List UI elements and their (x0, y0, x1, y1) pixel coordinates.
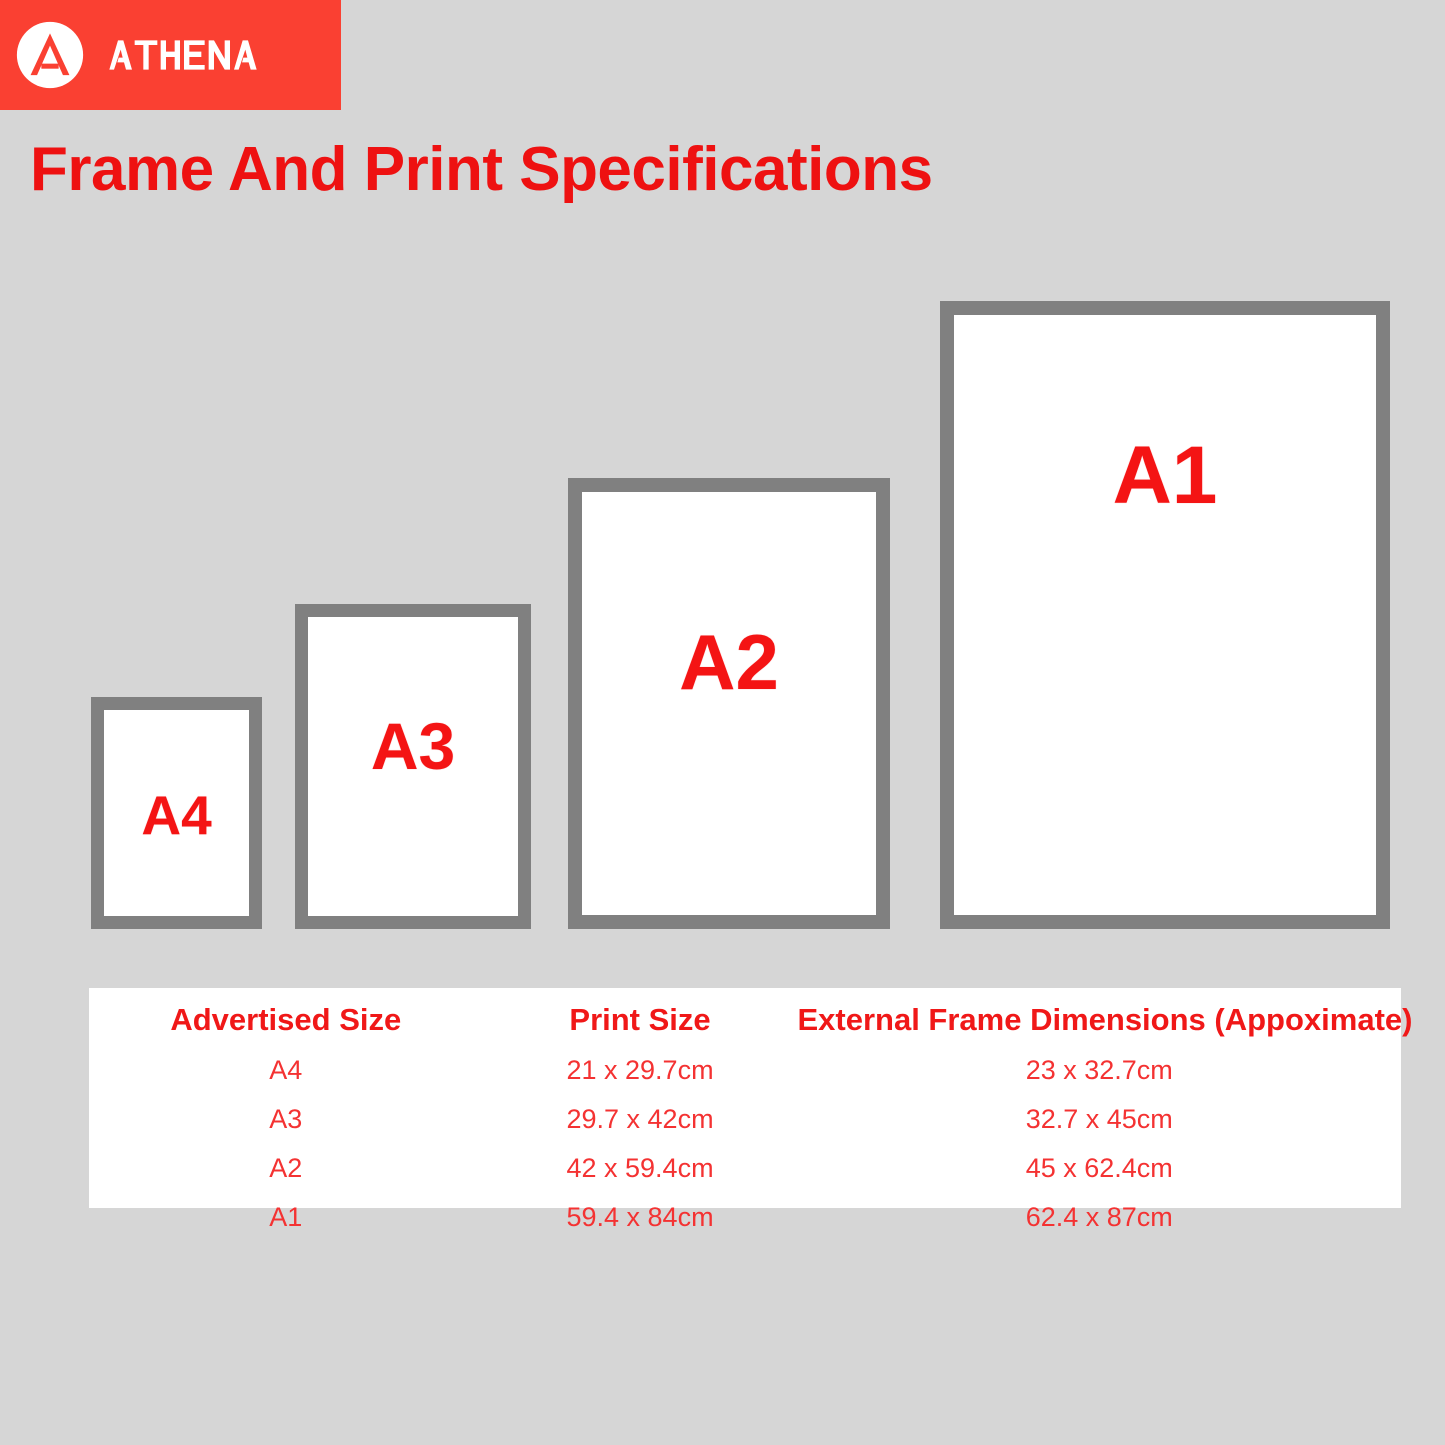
cell-print-size: 29.7 x 42cm (483, 1095, 798, 1144)
frame-a1-label: A1 (954, 435, 1376, 517)
frame-a2[interactable]: A2 (568, 478, 890, 929)
table-row: A3 29.7 x 42cm 32.7 x 45cm (89, 1095, 1401, 1144)
brand-banner (0, 0, 341, 110)
frame-a3[interactable]: A3 (295, 604, 531, 929)
frame-a1[interactable]: A1 (940, 301, 1390, 929)
page-title: Frame And Print Specifications (30, 139, 933, 201)
column-header-external-frame-dimensions: External Frame Dimensions (Appoximate) (797, 988, 1401, 1046)
cell-external-size: 23 x 32.7cm (797, 1046, 1401, 1095)
table-header-row: Advertised Size Print Size External Fram… (89, 988, 1401, 1046)
spec-table-panel: Advertised Size Print Size External Fram… (89, 988, 1401, 1208)
table-row: A1 59.4 x 84cm 62.4 x 87cm (89, 1193, 1401, 1242)
cell-print-size: 21 x 29.7cm (483, 1046, 798, 1095)
table-row: A4 21 x 29.7cm 23 x 32.7cm (89, 1046, 1401, 1095)
cell-external-size: 45 x 62.4cm (797, 1144, 1401, 1193)
cell-external-size: 62.4 x 87cm (797, 1193, 1401, 1242)
cell-advertised-size: A1 (89, 1193, 483, 1242)
cell-external-size: 32.7 x 45cm (797, 1095, 1401, 1144)
frame-a4[interactable]: A4 (91, 697, 262, 929)
frame-a2-label: A2 (582, 623, 876, 701)
cell-advertised-size: A4 (89, 1046, 483, 1095)
frame-a4-label: A4 (104, 788, 249, 843)
column-header-print-size: Print Size (483, 988, 798, 1046)
brand-wordmark (96, 35, 296, 75)
spec-table-header: Advertised Size Print Size External Fram… (89, 988, 1401, 1046)
cell-advertised-size: A3 (89, 1095, 483, 1144)
athena-a-monogram-icon (14, 19, 86, 91)
frame-a3-label: A3 (308, 713, 518, 779)
cell-print-size: 42 x 59.4cm (483, 1144, 798, 1193)
cell-print-size: 59.4 x 84cm (483, 1193, 798, 1242)
table-row: A2 42 x 59.4cm 45 x 62.4cm (89, 1144, 1401, 1193)
column-header-advertised-size: Advertised Size (89, 988, 483, 1046)
frame-spec-table: Advertised Size Print Size External Fram… (89, 988, 1401, 1242)
spec-table-body: A4 21 x 29.7cm 23 x 32.7cm A3 29.7 x 42c… (89, 1046, 1401, 1242)
cell-advertised-size: A2 (89, 1144, 483, 1193)
